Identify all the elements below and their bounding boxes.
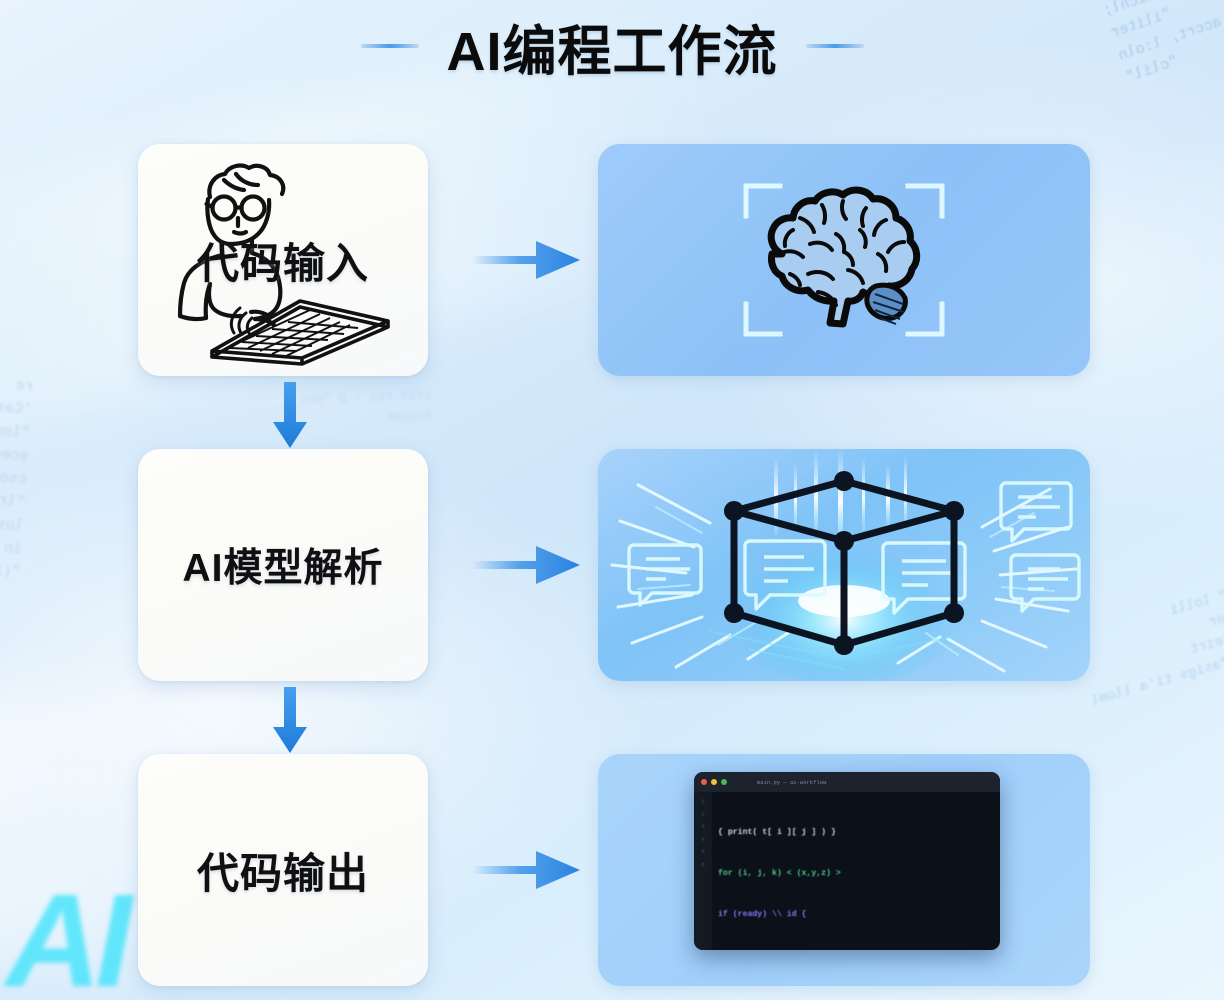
code-line: { print( t[ i ][ j ] ) } xyxy=(718,828,836,837)
flow-row-3: 代码输出 main.py — ai-workflow xyxy=(0,754,1224,986)
illustration-panel-brain xyxy=(598,144,1090,376)
line-number: 1 xyxy=(701,799,704,805)
arrow-right-icon xyxy=(470,232,582,288)
code-editor-window-icon: main.py — ai-workflow 1 2 3 4 5 6 { prin… xyxy=(694,772,1000,950)
title-dash-left-icon xyxy=(361,44,419,48)
flow-row-1: 代码输入 xyxy=(0,144,1224,376)
line-number: 3 xyxy=(701,824,704,830)
line-number: 4 xyxy=(701,837,704,843)
page-title-row: AI编程工作流 xyxy=(0,6,1224,86)
traffic-light-green-icon xyxy=(721,779,727,785)
background-code-text: l713.tvl - D "sol lcizoe xyxy=(299,386,433,431)
arrow-right-icon xyxy=(470,537,582,593)
brain-icon xyxy=(748,182,938,340)
arrow-down-icon xyxy=(269,685,311,755)
flow-row-2: AI模型解析 xyxy=(0,449,1224,681)
arrow-right-icon xyxy=(470,842,582,898)
line-number: 2 xyxy=(701,812,704,818)
step-card-label: AI模型解析 xyxy=(182,537,383,593)
code-line-number-gutter: 1 2 3 4 5 6 xyxy=(694,792,712,950)
line-number: 6 xyxy=(701,862,704,868)
traffic-light-red-icon xyxy=(701,779,707,785)
code-line: for (i, j, k) < (x,y,z) > xyxy=(718,869,841,878)
line-number: 5 xyxy=(701,849,704,855)
wireframe-cube-icon xyxy=(598,449,1090,681)
code-window-body: 1 2 3 4 5 6 { print( t[ i ][ j ] ) } for… xyxy=(694,792,1000,950)
illustration-panel-cube xyxy=(598,449,1090,681)
workflow-infographic: lichl; "iliter lict accrt, l:oln "clil" … xyxy=(0,0,1224,1000)
traffic-light-yellow-icon xyxy=(711,779,717,785)
code-window-titlebar: main.py — ai-workflow xyxy=(694,772,1000,792)
code-window-title: main.py — ai-workflow xyxy=(757,779,826,786)
title-dash-right-icon xyxy=(806,44,864,48)
page-title: AI编程工作流 xyxy=(447,7,778,86)
step-card-label: 代码输入 xyxy=(197,230,369,291)
step-card-label: 代码输出 xyxy=(197,840,369,901)
code-text-area: { print( t[ i ][ j ] ) } for (i, j, k) <… xyxy=(712,792,1000,950)
illustration-panel-code-editor: main.py — ai-workflow 1 2 3 4 5 6 { prin… xyxy=(598,754,1090,986)
step-card-code-input[interactable]: 代码输入 xyxy=(138,144,428,376)
step-card-ai-model-analysis[interactable]: AI模型解析 xyxy=(138,449,428,681)
step-card-code-output[interactable]: 代码输出 xyxy=(138,754,428,986)
arrow-down-icon xyxy=(269,380,311,450)
code-line: if (ready) \\ id { xyxy=(718,910,806,919)
